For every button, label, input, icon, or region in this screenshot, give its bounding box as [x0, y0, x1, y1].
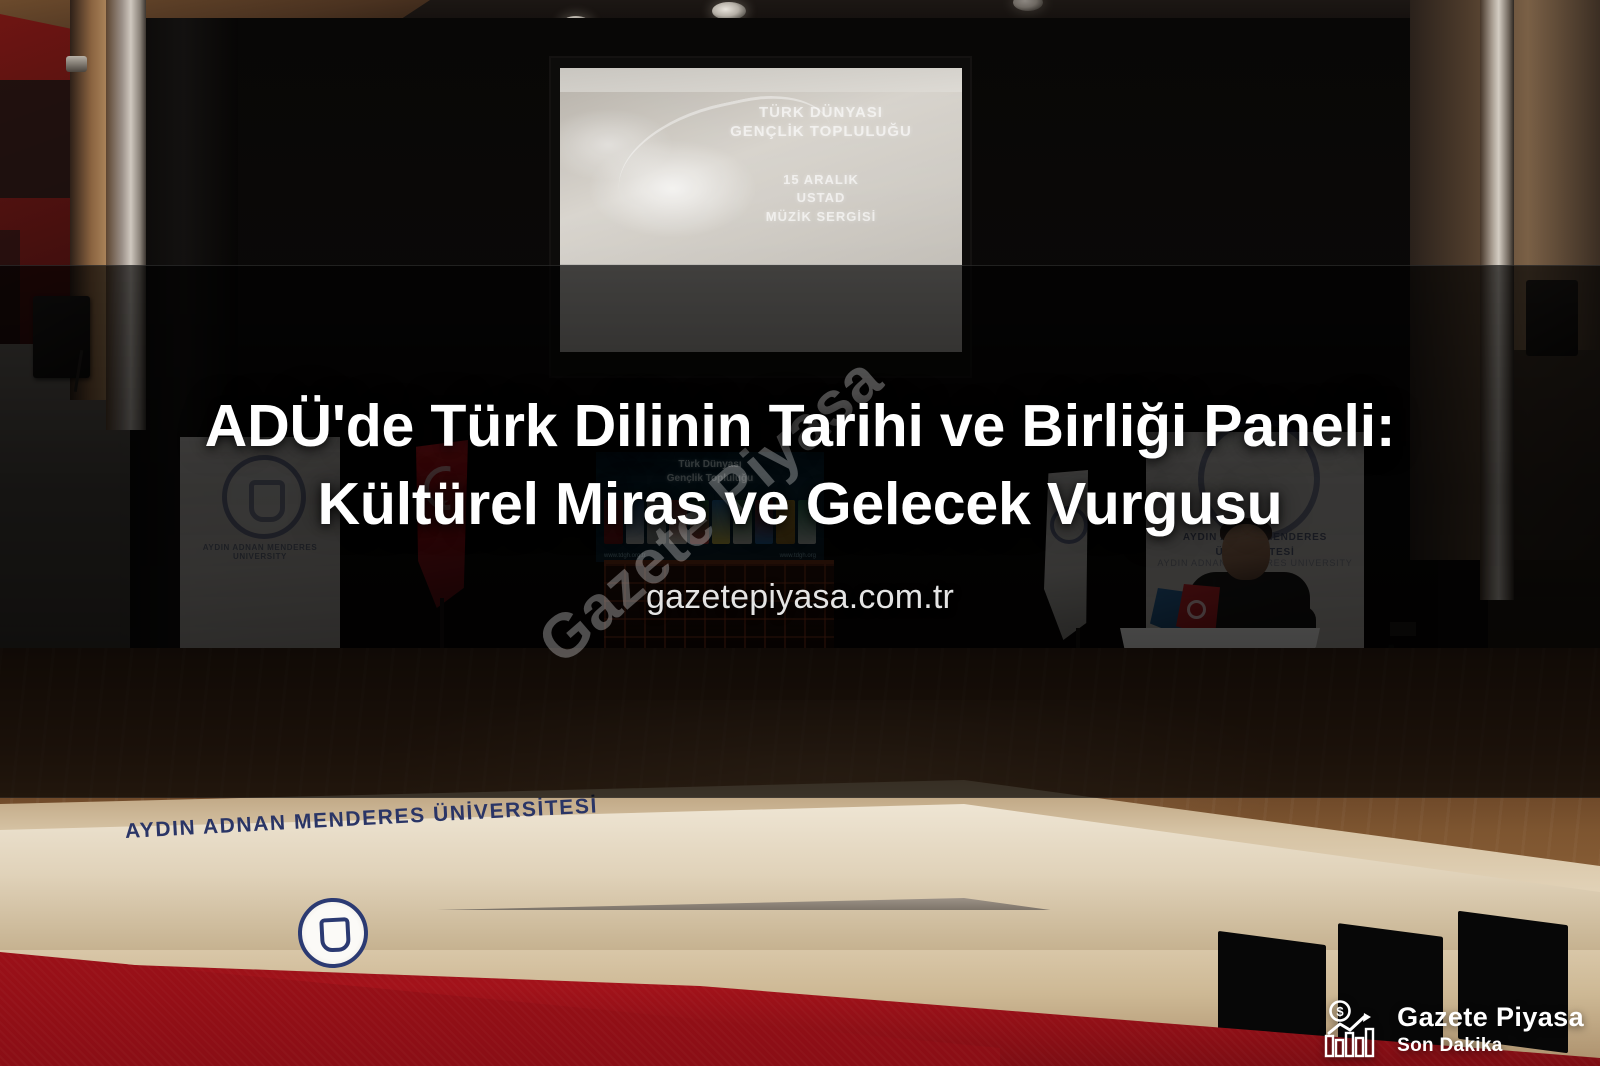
university-seal-icon [222, 455, 306, 539]
projection-screen-lower [560, 264, 962, 352]
projected-slide-text: TÜRK DÜNYASI GENÇLİK TOPLULUĞU 15 ARALIK… [716, 104, 926, 226]
flag-icon [776, 500, 795, 544]
flag-icon [669, 500, 688, 544]
wall-inset [0, 80, 74, 198]
backdrop-panel-left: AYDIN ADNAN MENDERES UNIVERSITY [180, 437, 340, 652]
brand-name: Gazete Piyasa [1397, 1004, 1584, 1031]
flag-icon [647, 500, 666, 544]
wall-light-fixture-icon [66, 56, 87, 72]
flag-icon [755, 500, 774, 544]
presenter-head [1222, 524, 1270, 580]
projection-line3: 15 ARALIK [716, 172, 926, 189]
brand-tagline: Son Dakika [1397, 1036, 1584, 1055]
banner-url-right: www.tdgh.org [780, 553, 816, 559]
wall-speaker [33, 296, 90, 378]
banner-title-line1: Türk Dünyası [596, 458, 824, 472]
right-wood-column [1480, 0, 1514, 600]
banner-url-left: www.tdgh.org.tr [604, 553, 646, 559]
university-seal-icon [1050, 506, 1088, 544]
flag-icon [733, 500, 752, 544]
brand-logo[interactable]: $ Gazete Piyasa Son Dakika [1323, 1000, 1584, 1058]
flag-icon [690, 500, 709, 544]
projection-line4: USTAD [716, 190, 926, 207]
event-banner: Türk Dünyası Gençlik Topluluğu www.tdgh.… [596, 452, 824, 562]
projection-line5: MÜZİK SERGİSİ [716, 209, 926, 226]
brand-text: Gazete Piyasa Son Dakika [1397, 1004, 1584, 1055]
wall-inset [0, 230, 20, 350]
flag-icon [604, 500, 623, 544]
flag-icon [798, 500, 817, 544]
backdrop-left-text: AYDIN ADNAN MENDERES UNIVERSITY [180, 543, 340, 561]
photo-scene: TÜRK DÜNYASI GENÇLİK TOPLULUĞU 15 ARALIK… [0, 0, 1600, 1066]
flag-icon [712, 500, 731, 544]
banner-title-line2: Gençlik Topluluğu [596, 472, 824, 486]
svg-text:$: $ [1337, 1004, 1345, 1019]
projection-line1: TÜRK DÜNYASI [716, 104, 926, 123]
flag-icon [626, 500, 645, 544]
banner-flag-row [604, 492, 816, 544]
right-wall-speaker [1526, 280, 1578, 356]
projection-screen: TÜRK DÜNYASI GENÇLİK TOPLULUĞU 15 ARALIK… [560, 68, 962, 352]
left-column-edge [106, 0, 146, 430]
event-banner-title: Türk Dünyası Gençlik Topluluğu [596, 458, 824, 485]
stage-table [604, 560, 834, 656]
projection-line2: GENÇLİK TOPLULUĞU [716, 123, 926, 142]
bar-chart-dollar-arrow-icon: $ [1323, 1000, 1387, 1058]
tripod-head [1390, 622, 1416, 636]
article-hero-image: TÜRK DÜNYASI GENÇLİK TOPLULUĞU 15 ARALIK… [0, 0, 1600, 1066]
